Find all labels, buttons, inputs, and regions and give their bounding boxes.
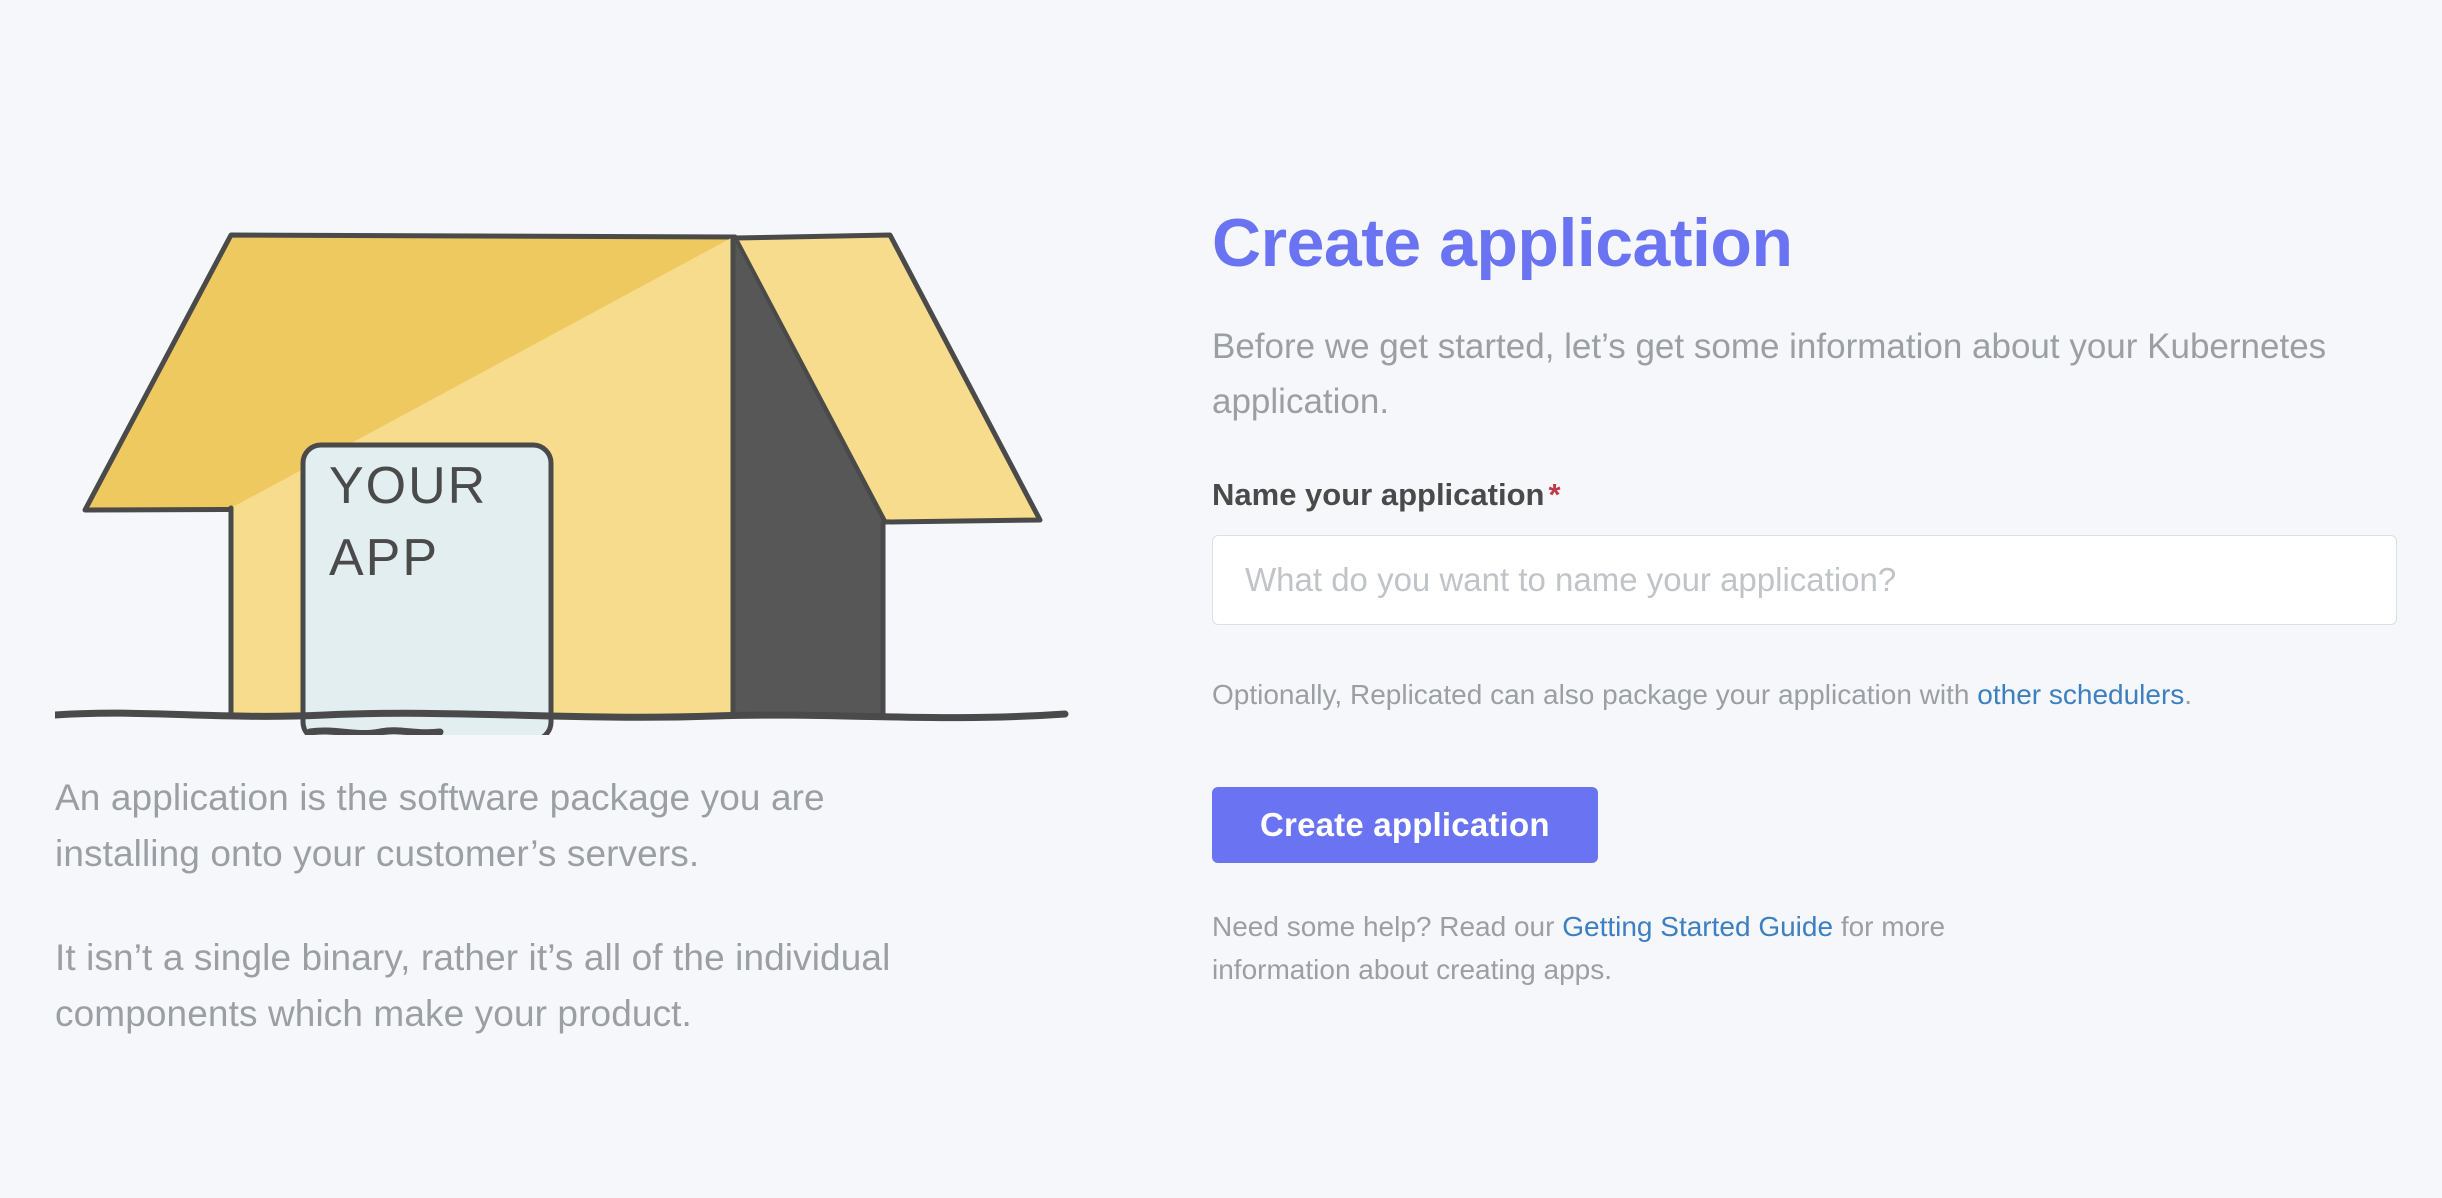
application-name-input[interactable] bbox=[1212, 535, 2397, 625]
create-application-button[interactable]: Create application bbox=[1212, 787, 1598, 863]
create-application-form: Create application Before we get started… bbox=[1212, 0, 2402, 1019]
other-schedulers-link[interactable]: other schedulers bbox=[1977, 679, 2184, 710]
ground-line bbox=[55, 713, 1065, 717]
page-title: Create application bbox=[1212, 0, 2402, 281]
left-description: An application is the software package y… bbox=[55, 770, 975, 1042]
application-name-label: Name your application* bbox=[1212, 477, 2402, 513]
create-application-page: YOUR APP An application is the software … bbox=[0, 0, 2442, 1198]
box-illustration: YOUR APP bbox=[55, 175, 1075, 735]
optional-note-suffix: . bbox=[2184, 679, 2192, 710]
description-paragraph-1: An application is the software package y… bbox=[55, 770, 975, 882]
optional-schedulers-note: Optionally, Replicated can also package … bbox=[1212, 675, 2402, 715]
required-asterisk: * bbox=[1548, 477, 1560, 512]
left-info-column: YOUR APP An application is the software … bbox=[55, 175, 1080, 1042]
optional-note-prefix: Optionally, Replicated can also package … bbox=[1212, 679, 1977, 710]
help-note: Need some help? Read our Getting Started… bbox=[1212, 905, 2012, 991]
box-dash-line-1 bbox=[310, 731, 440, 734]
getting-started-guide-link[interactable]: Getting Started Guide bbox=[1562, 911, 1833, 942]
help-note-prefix: Need some help? Read our bbox=[1212, 911, 1562, 942]
box-label-line2: APP bbox=[329, 529, 439, 587]
application-name-label-text: Name your application bbox=[1212, 477, 1544, 512]
description-paragraph-2: It isn’t a single binary, rather it’s al… bbox=[55, 930, 975, 1042]
form-subtitle: Before we get started, let’s get some in… bbox=[1212, 319, 2342, 429]
box-label-line1: YOUR bbox=[329, 457, 487, 515]
